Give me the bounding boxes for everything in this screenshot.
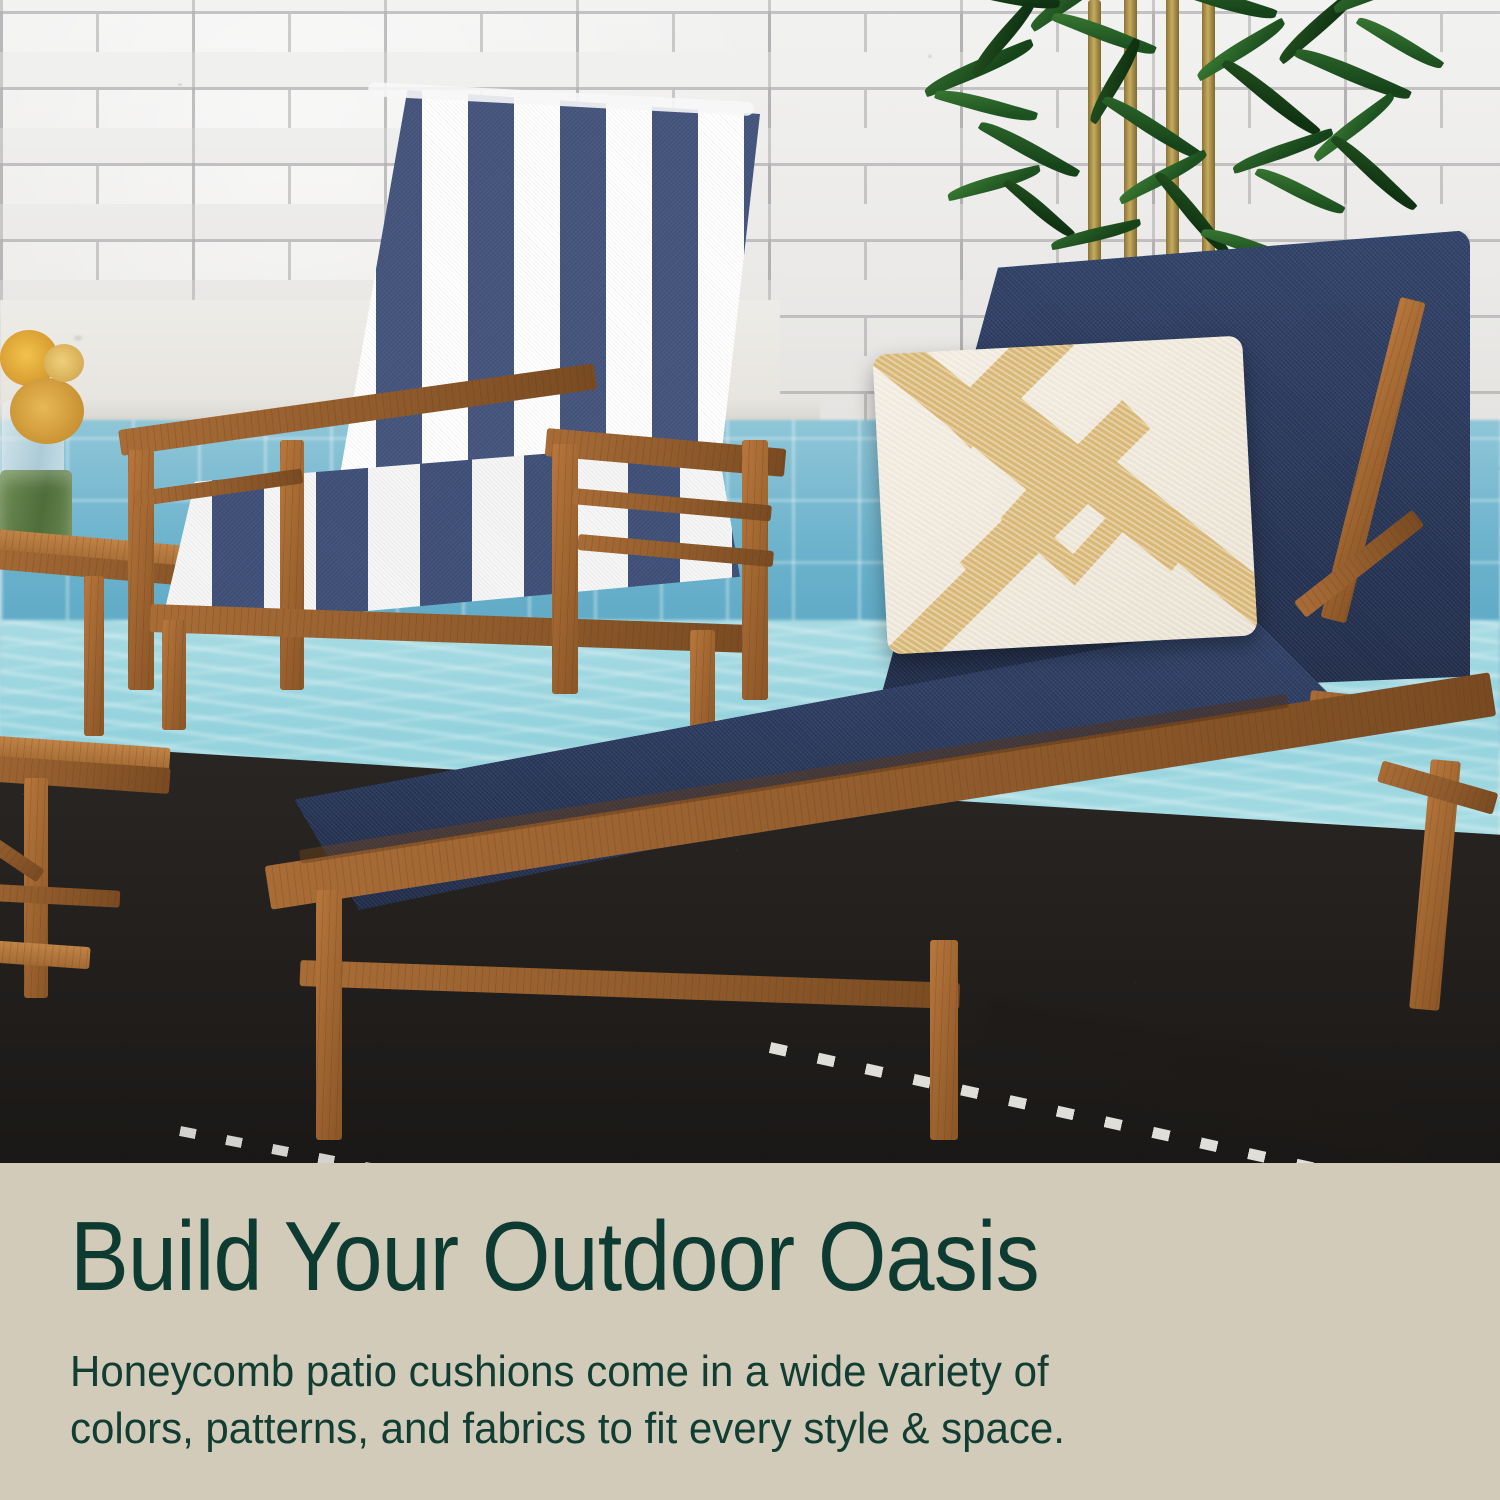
chaise-front-right-leg (930, 940, 958, 1140)
pillow-diamond-band (940, 336, 1183, 449)
throw-pillow (872, 336, 1257, 655)
bamboo-leaf (1330, 130, 1417, 215)
chair-left-arm-post (128, 450, 154, 690)
patio-photo (0, 0, 1500, 1163)
hero-banner-page: Build Your Outdoor Oasis Honeycomb patio… (0, 0, 1500, 1500)
bamboo-leaf (1254, 162, 1345, 219)
side-table-leg (84, 576, 104, 736)
bamboo-leaf (1221, 54, 1321, 141)
bamboo-leaf (1101, 90, 1202, 165)
pillow-diamond-band (878, 473, 1090, 654)
text-banner: Build Your Outdoor Oasis Honeycomb patio… (0, 1163, 1500, 1500)
chair-right-back-post (742, 440, 768, 700)
chair-left-front-leg (162, 620, 186, 730)
page-title: Build Your Outdoor Oasis (70, 1207, 1039, 1305)
protea-bloom (10, 378, 84, 444)
bamboo-leaf (934, 84, 1038, 127)
pillow-diamond-band (1090, 460, 1258, 654)
bamboo-leaf (1003, 175, 1076, 242)
bamboo-leaf (1331, 0, 1441, 14)
pillow-diamond-band (960, 400, 1151, 591)
pillow-diamond-center (1000, 444, 1141, 585)
chair-right-arm-post (552, 444, 578, 694)
chaise-front-left-leg (316, 890, 342, 1140)
bamboo-leaf (1051, 6, 1157, 60)
pillow-diamond-band (872, 336, 1096, 524)
bamboo-leaf (1162, 0, 1277, 26)
protea-bloom (44, 344, 84, 382)
pillow-diamond-band (992, 396, 1196, 572)
page-subtitle: Honeycomb patio cushions come in a wide … (70, 1343, 1065, 1457)
bamboo-leaf (1356, 12, 1445, 75)
subtitle-line-2: colors, patterns, and fabrics to fit eve… (70, 1400, 1065, 1457)
subtitle-line-1: Honeycomb patio cushions come in a wide … (70, 1347, 1049, 1396)
